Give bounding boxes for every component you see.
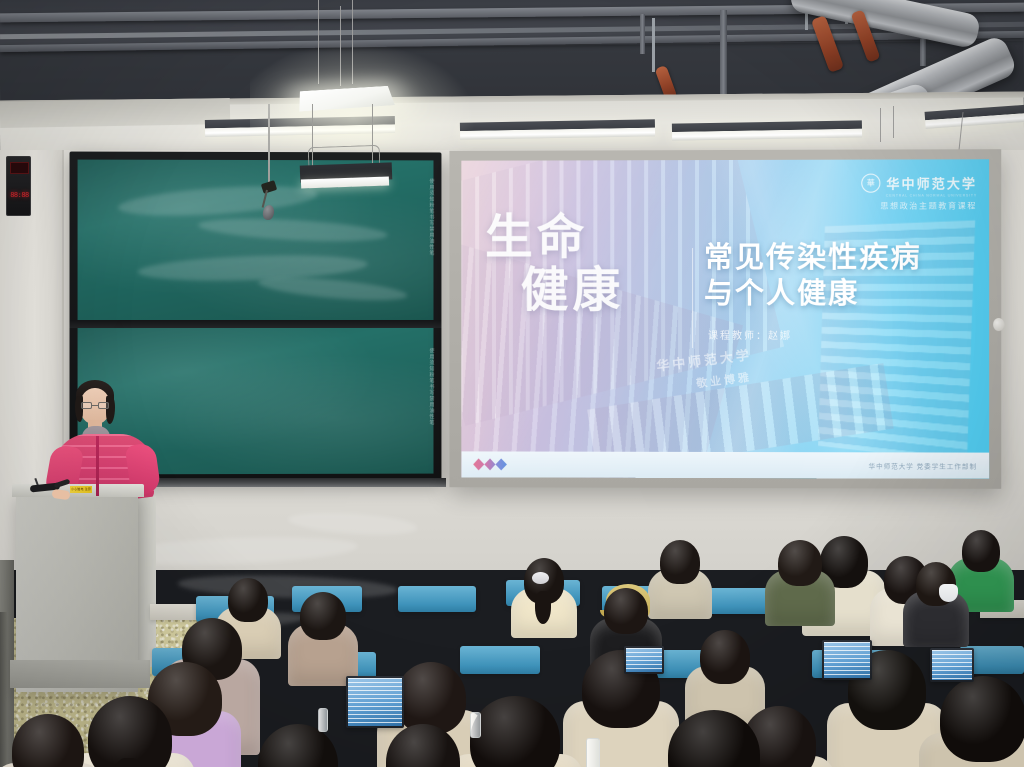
student-head (88, 696, 172, 767)
audience (0, 500, 1024, 767)
logo-row: 華 华中师范大学 (861, 173, 977, 192)
face-mask (939, 584, 957, 602)
slide-theme-line2: 健康 (521, 267, 694, 316)
light-suspension-wire (340, 6, 341, 86)
chalk-smear (198, 215, 389, 245)
laptop-screen (348, 678, 402, 726)
auditorium-seat (398, 586, 476, 612)
projection-screen[interactable]: 华中师范大学 敬业博雅 生命 健康 常见传染性疾病 与个人健康 课程教师：赵娜 … (449, 149, 1001, 489)
eyeglass-lens (98, 402, 109, 409)
chalkboard-notice-label: 使用须知粉笔书写禁用油性笔 (427, 178, 436, 288)
student-head (700, 630, 750, 684)
led-clock-upper-panel (10, 162, 29, 174)
student-head (228, 578, 268, 622)
student-head (962, 530, 1000, 572)
water-bottle (586, 738, 600, 767)
soffit-notch (0, 98, 230, 128)
laptop-screen (824, 642, 870, 678)
student-laptop[interactable] (822, 640, 872, 680)
student-laptop[interactable] (624, 646, 664, 674)
university-name: 华中师范大学 (886, 173, 977, 192)
hair-scrunchie (532, 572, 549, 584)
eyeglass-bridge (92, 405, 98, 406)
slide-footer: 华中师范大学 党委学生工作部制 (461, 451, 989, 478)
student-laptop[interactable] (346, 676, 404, 728)
student-head (668, 710, 760, 767)
water-bottle (470, 712, 481, 738)
student (778, 540, 822, 642)
linear-ceiling-light (460, 119, 655, 139)
water-bottle (318, 708, 328, 732)
projection-screen-surface: 华中师范大学 敬业博雅 生命 健康 常见传染性疾病 与个人健康 课程教师：赵娜 … (461, 159, 989, 478)
eyeglasses-icon (81, 402, 109, 409)
student (88, 696, 172, 767)
student-head (386, 724, 460, 767)
student (660, 540, 700, 634)
screen-frame-knob[interactable] (993, 318, 1004, 331)
slide-presenter-credit: 课程教师：赵娜 (708, 326, 980, 341)
chalk-smear (258, 273, 409, 304)
slide-theme-line1: 生命 (485, 211, 588, 264)
student-head (604, 588, 648, 634)
student (668, 710, 760, 767)
laptop-screen (626, 648, 662, 672)
chalkboard-notice-label: 使用须知粉笔书写禁用油性笔 (427, 348, 436, 448)
slide-title-block: 常见传染性疾病 与个人健康 课程教师：赵娜 (704, 240, 980, 342)
slide-university-logo: 華 华中师范大学 CENTRAL CHINA NORMAL UNIVERSITY… (861, 173, 977, 211)
slide-theme-title: 生命 健康 (485, 214, 694, 316)
duct-hanger (652, 18, 655, 72)
student (916, 562, 956, 662)
student-head (660, 540, 700, 584)
university-seal-icon: 華 (861, 174, 880, 193)
student (470, 696, 560, 767)
presenter-hair-side (106, 396, 115, 424)
student-head (778, 540, 822, 586)
chalk-smear (117, 181, 319, 221)
hanging-cable (880, 108, 881, 142)
presenter-hair-side (75, 396, 83, 422)
led-clock-digits: 88:88 (10, 179, 29, 211)
student (12, 714, 84, 767)
university-name-english: CENTRAL CHINA NORMAL UNIVERSITY (861, 193, 977, 197)
slide-title-line2: 与个人健康 (704, 276, 980, 312)
laptop-screen (932, 650, 972, 680)
hanging-cable (893, 106, 894, 138)
student-head (300, 592, 346, 640)
linear-ceiling-light (672, 120, 862, 140)
student-head (940, 676, 1024, 762)
slide-vertical-divider (692, 248, 693, 348)
student (940, 676, 1024, 767)
wall-led-clock[interactable]: 88:88 (6, 156, 31, 216)
student-laptop[interactable] (930, 648, 974, 682)
slide-footer-credit: 华中师范大学 党委学生工作部制 (868, 460, 977, 470)
slide-title-line1: 常见传染性疾病 (704, 240, 980, 277)
student (386, 724, 460, 767)
jacket-zipper (96, 436, 99, 496)
student (300, 592, 346, 702)
microphone-cable (268, 104, 270, 186)
warning-sticker: 小心触电 注意安全 (70, 486, 92, 493)
student (524, 558, 564, 654)
chalkboard-divider (70, 320, 442, 328)
eyeglass-lens (81, 402, 92, 409)
presentation-slide: 华中师范大学 敬业博雅 生命 健康 常见传染性疾病 与个人健康 课程教师：赵娜 … (461, 159, 989, 478)
course-series-subtitle: 思想政治主题教育课程 (861, 200, 977, 211)
slide-footer-mark-icon (473, 458, 507, 470)
student-head (12, 714, 84, 767)
ceiling-support (640, 14, 645, 54)
light-suspension-wire (318, 0, 319, 84)
light-suspension-wire (352, 0, 353, 84)
lecture-hall-photo: 88:88 使用须知粉笔书写禁用油性笔 使用须知粉笔书写禁用油性笔 (0, 0, 1024, 767)
student-head (470, 696, 560, 767)
